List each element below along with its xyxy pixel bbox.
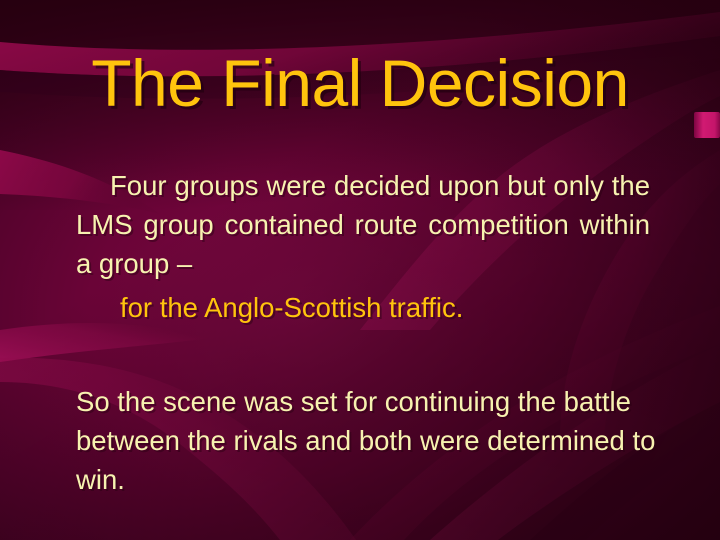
slide-title: The Final Decision (0, 48, 720, 118)
paragraph-1-text: Four groups were decided upon but only t… (76, 170, 650, 279)
presentation-slide: The Final Decision Four groups were deci… (0, 0, 720, 540)
paragraph-3-text: So the scene was set for continuing the … (76, 386, 655, 495)
paragraph-2-text: for the Anglo-Scottish traffic. (120, 292, 463, 323)
slide-content: The Final Decision Four groups were deci… (0, 0, 720, 540)
body-paragraph-3: So the scene was set for continuing the … (76, 382, 676, 499)
body-paragraph-1: Four groups were decided upon but only t… (76, 166, 650, 283)
body-paragraph-2: for the Anglo-Scottish traffic. (76, 288, 676, 327)
